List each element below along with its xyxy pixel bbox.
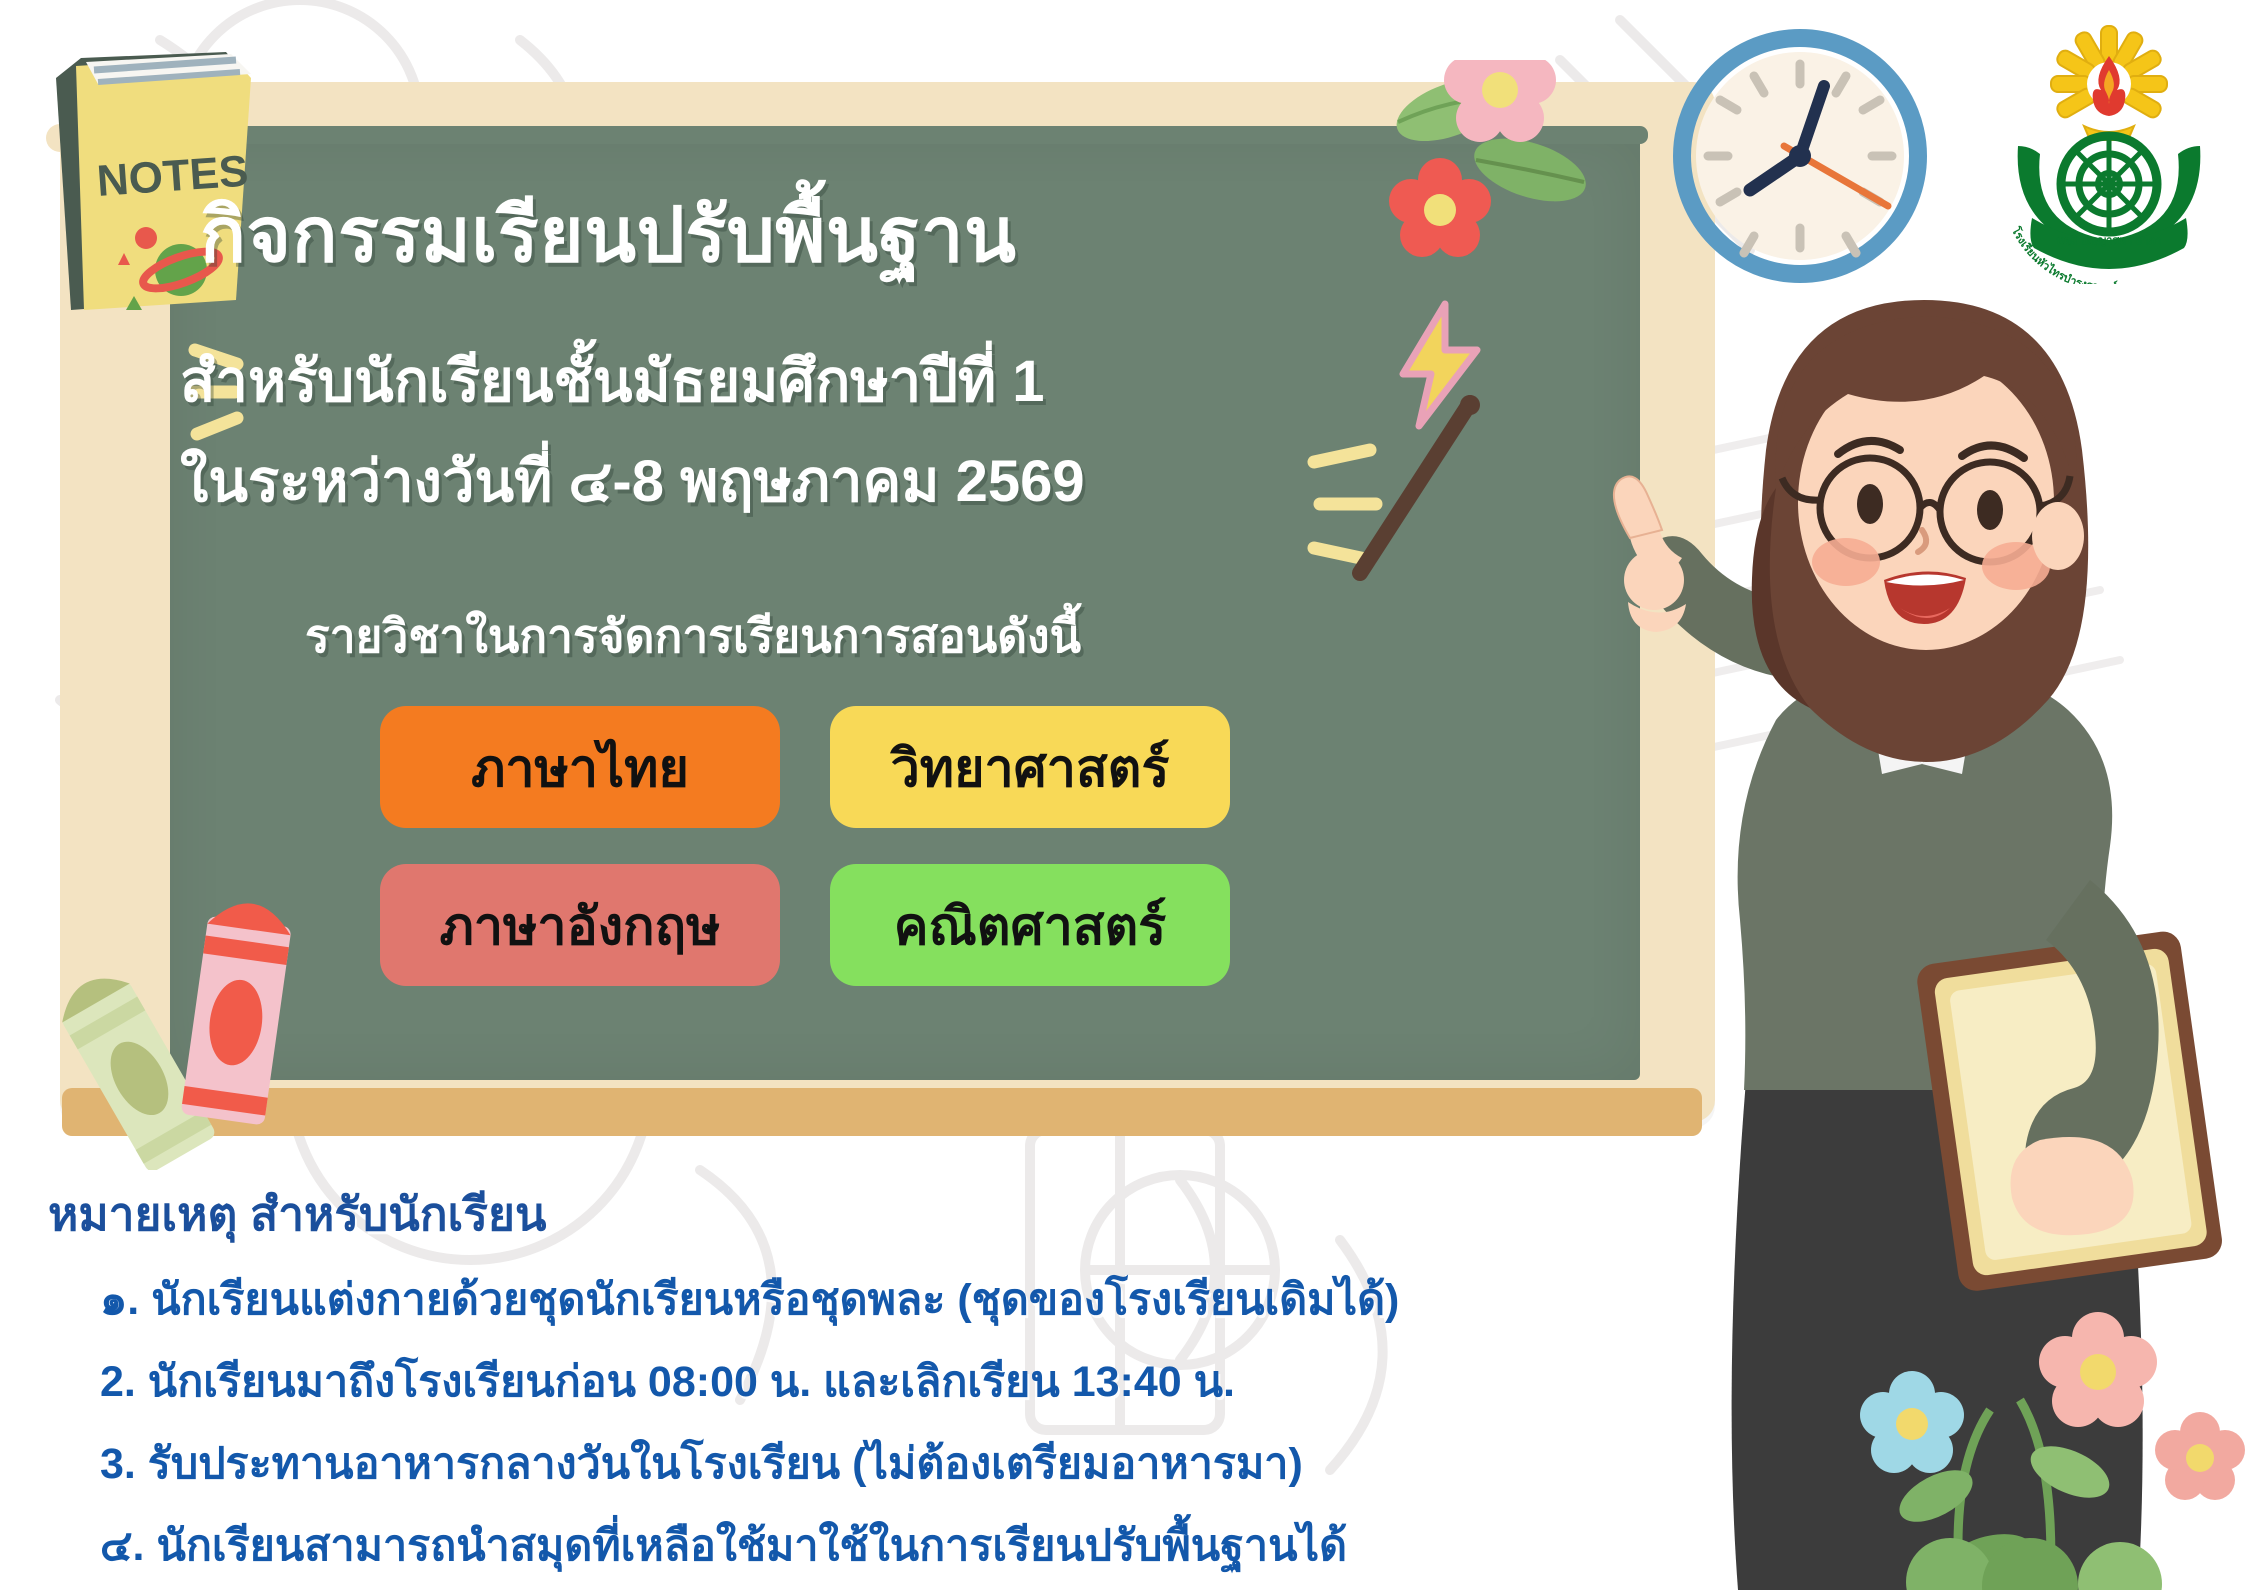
crayons-icon: [40, 870, 370, 1170]
note-item-2: 2. นักเรียนมาถึงโรงเรียนก่อน 08:00 น. แล…: [100, 1347, 1728, 1415]
wall-clock-icon: [1672, 28, 1928, 284]
logo-motto: นตฺถิ ปญฺญาสมา อาภา: [2056, 234, 2162, 247]
subject-chip-list: ภาษาไทย วิทยาศาสตร์ ภาษาอังกฤษ คณิตศาสตร…: [380, 706, 1260, 986]
subject-chip-english[interactable]: ภาษาอังกฤษ: [380, 864, 780, 986]
school-logo: นตฺถิ ปญฺญาสมา อาภา โรงเรียนหัวไทรบำรุงร…: [1988, 22, 2230, 284]
bottom-flower-decoration-icon: [1840, 1290, 2245, 1590]
student-notes-section: หมายเหตุ สำหรับนักเรียน ๑. นักเรียนแต่งก…: [48, 1178, 1728, 1593]
note-item-1: ๑. นักเรียนแต่งกายด้วยชุดนักเรียนหรือชุด…: [100, 1265, 1728, 1333]
subtitle-line-2: ในระหว่างวันที่ ๔-8 พฤษภาคม 2569: [180, 434, 1480, 527]
subject-chip-math[interactable]: คณิตศาสตร์: [830, 864, 1230, 986]
subjects-heading: รายวิชาในการจัดการเรียนการสอนดังนี้: [305, 600, 1505, 673]
subtitle-line-1: สำหรับนักเรียนชั้นมัธยมศึกษาปีที่ 1: [180, 334, 1480, 427]
page-title: กิจกรรมเรียนปรับพื้นฐาน: [200, 196, 1500, 276]
notes-heading: หมายเหตุ สำหรับนักเรียน: [48, 1178, 1728, 1251]
note-item-3: 3. รับประทานอาหารกลางวันในโรงเรียน (ไม่ต…: [100, 1429, 1728, 1497]
note-item-4: ๔. นักเรียนสามารถนำสมุดที่เหลือใช้มาใช้ใ…: [100, 1511, 1728, 1579]
pointer-stick-icon: [1320, 395, 1500, 595]
subject-chip-thai[interactable]: ภาษาไทย: [380, 706, 780, 828]
subject-chip-science[interactable]: วิทยาศาสตร์: [830, 706, 1230, 828]
